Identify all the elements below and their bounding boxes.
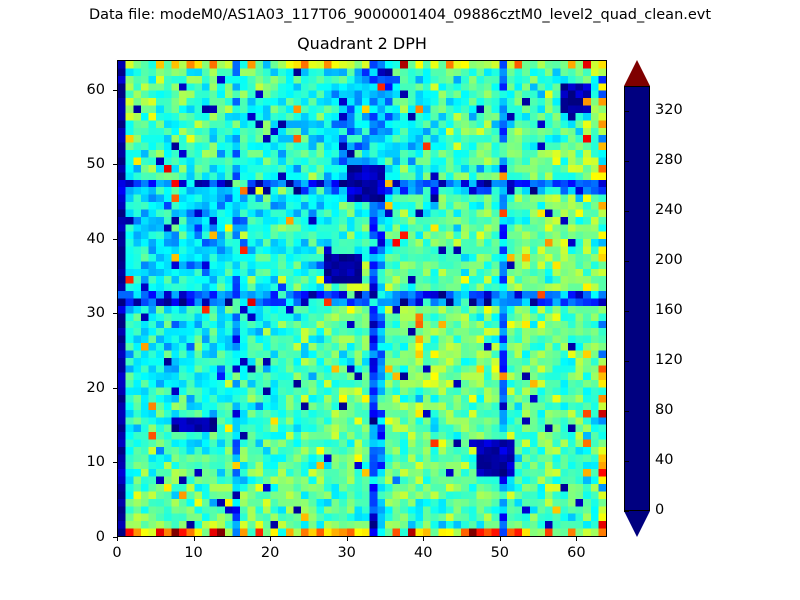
colorbar-tick-label: 40 — [655, 452, 673, 468]
colorbar-gradient — [625, 87, 649, 510]
x-axis-tick — [270, 537, 271, 541]
data-file-label: Data file: modeM0/AS1A03_117T06_90000014… — [0, 5, 800, 25]
x-axis-tick-label: 0 — [87, 545, 147, 561]
x-axis-tick-label: 60 — [546, 545, 606, 561]
colorbar-tick — [624, 461, 629, 462]
colorbar-tick — [624, 111, 629, 112]
y-axis-tick-label: 50 — [47, 156, 105, 172]
y-axis-tick-label: 60 — [47, 82, 105, 98]
y-axis-tick-label: 0 — [47, 529, 105, 545]
x-axis-tick — [194, 537, 195, 541]
colorbar-under-arrow-icon — [624, 511, 650, 537]
x-axis-tick-label: 50 — [470, 545, 530, 561]
x-axis-tick-label: 30 — [317, 545, 377, 561]
colorbar-tick — [624, 411, 629, 412]
y-axis-tick — [113, 537, 117, 538]
colorbar-tick-label: 280 — [655, 152, 683, 168]
y-axis-tick-label: 30 — [47, 305, 105, 321]
colorbar-tick — [624, 261, 629, 262]
y-axis-tick — [113, 239, 117, 240]
y-axis-tick — [113, 313, 117, 314]
x-axis-tick — [423, 537, 424, 541]
y-axis-tick-label: 20 — [47, 380, 105, 396]
y-axis-tick — [113, 388, 117, 389]
heatmap-axes[interactable] — [117, 60, 607, 537]
x-axis-tick-label: 10 — [164, 545, 224, 561]
colorbar-tick-label: 240 — [655, 202, 683, 218]
colorbar-tick-label: 80 — [655, 402, 673, 418]
y-axis-tick-label: 40 — [47, 231, 105, 247]
x-axis-tick — [576, 537, 577, 541]
colorbar-tick — [624, 311, 629, 312]
colorbar-body — [624, 86, 650, 511]
y-axis-tick-label: 10 — [47, 454, 105, 470]
y-axis-tick — [113, 90, 117, 91]
colorbar[interactable] — [624, 60, 650, 537]
colorbar-tick — [624, 211, 629, 212]
colorbar-over-arrow-icon — [624, 60, 650, 86]
x-axis-tick-label: 20 — [240, 545, 300, 561]
colorbar-tick-label: 160 — [655, 302, 683, 318]
y-axis-tick — [113, 164, 117, 165]
x-axis-tick — [500, 537, 501, 541]
y-axis-tick — [113, 462, 117, 463]
colorbar-tick-label: 120 — [655, 352, 683, 368]
colorbar-tick — [624, 511, 629, 512]
colorbar-tick-label: 320 — [655, 102, 683, 118]
x-axis-tick — [347, 537, 348, 541]
colorbar-tick — [624, 161, 629, 162]
colorbar-tick-label: 200 — [655, 252, 683, 268]
colorbar-tick-label: 0 — [655, 502, 664, 518]
x-axis-tick — [117, 537, 118, 541]
heatmap-image — [118, 61, 606, 536]
page-title: Quadrant 2 DPH — [117, 33, 607, 55]
colorbar-tick — [624, 361, 629, 362]
x-axis-tick-label: 40 — [393, 545, 453, 561]
figure-canvas: Data file: modeM0/AS1A03_117T06_90000014… — [0, 0, 800, 600]
